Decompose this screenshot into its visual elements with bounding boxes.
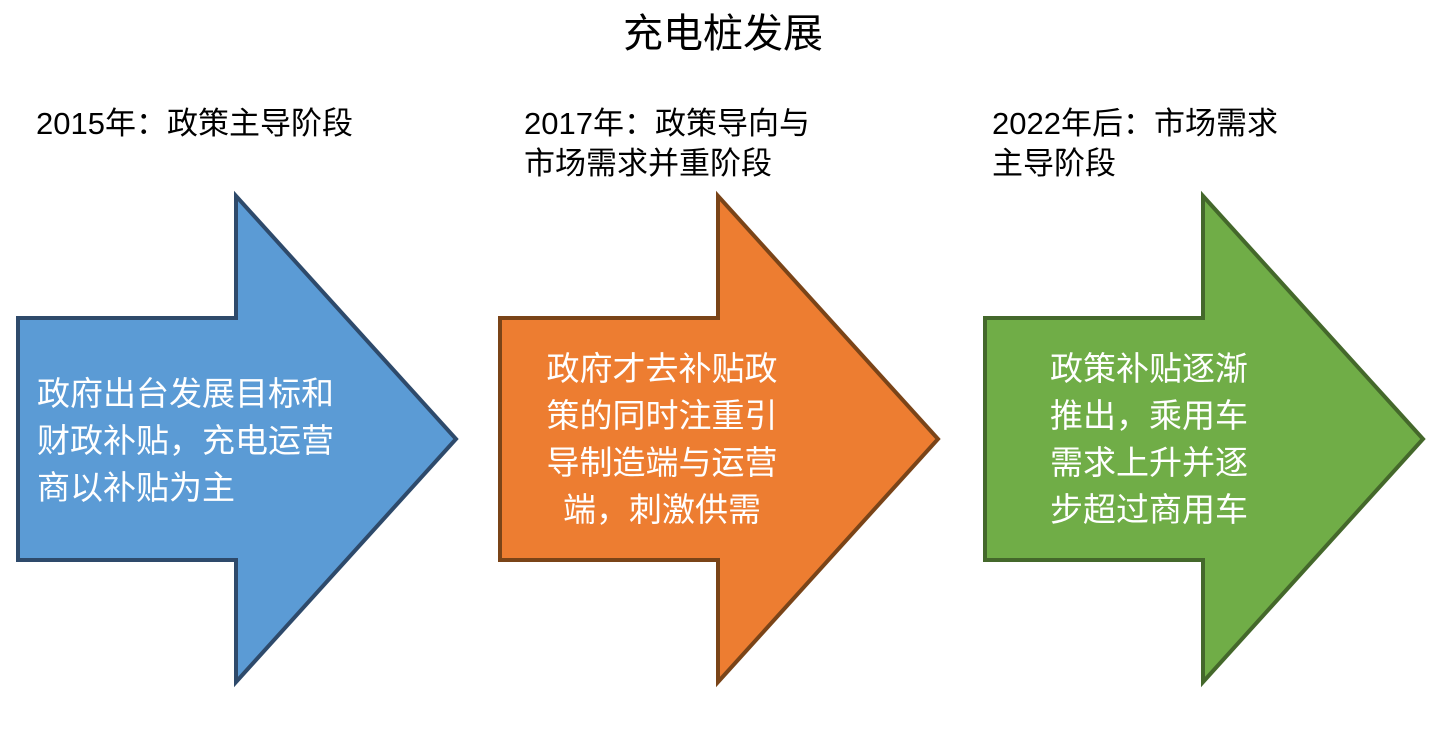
page-title: 充电桩发展 <box>0 8 1446 60</box>
arrow-stage-3[interactable]: 政策补贴逐渐 推出，乘用车 需求上升并逐 步超过商用车 <box>977 190 1446 690</box>
stage-label-3: 2022年后：市场需求 主导阶段 <box>992 104 1392 184</box>
arrow-stage-1[interactable]: 政府出台发展目标和 财政补贴，充电运营 商以补贴为主 <box>10 190 490 690</box>
arrow-text-stage-1: 政府出台发展目标和 财政补贴，充电运营 商以补贴为主 <box>37 370 397 511</box>
arrow-text-stage-3: 政策补贴逐渐 推出，乘用车 需求上升并逐 步超过商用车 <box>999 345 1299 533</box>
arrow-stage-2[interactable]: 政府才去补贴政 策的同时注重引 导制造端与运营 端，刺激供需 <box>492 190 972 690</box>
stage-label-1: 2015年：政策主导阶段 <box>36 104 476 144</box>
arrow-text-stage-2: 政府才去补贴政 策的同时注重引 导制造端与运营 端，刺激供需 <box>512 345 812 533</box>
stage-label-2: 2017年：政策导向与 市场需求并重阶段 <box>524 104 924 184</box>
